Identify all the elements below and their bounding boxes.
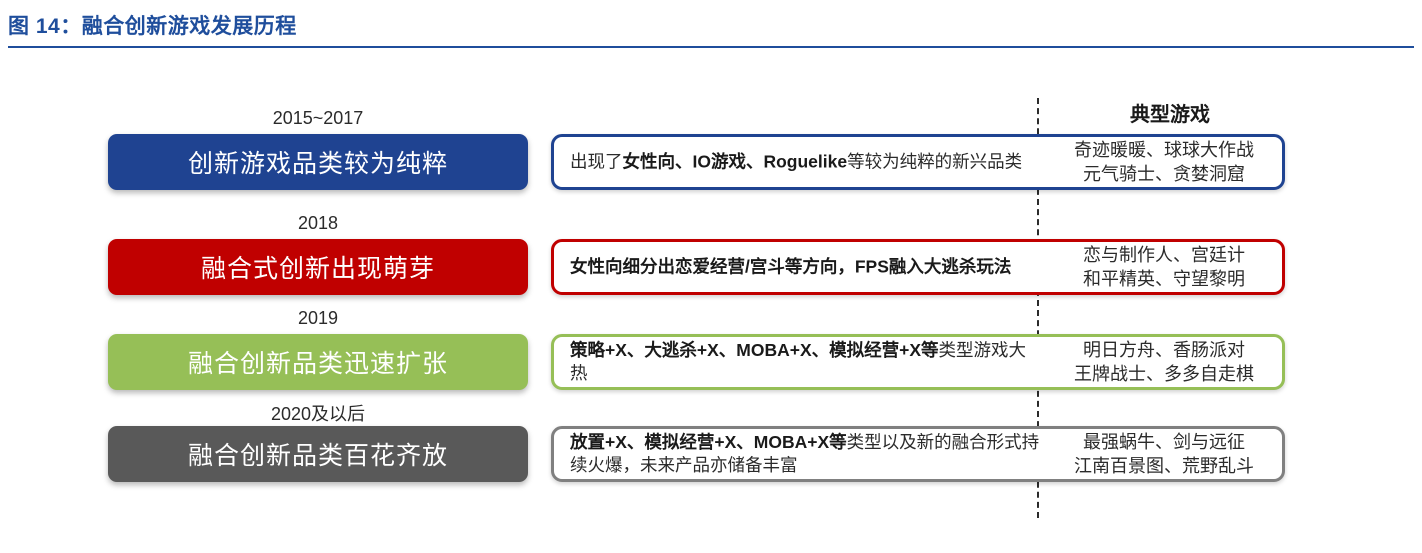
games-line: 王牌战士、多多自走棋: [1049, 362, 1279, 386]
games-line: 明日方舟、香肠派对: [1049, 338, 1279, 362]
description-box: 策略+X、大逃杀+X、MOBA+X、模拟经营+X等类型游戏大热 明日方舟、香肠派…: [551, 334, 1285, 390]
games-line: 元气骑士、贪婪洞窟: [1049, 162, 1279, 186]
timeline-diagram: 典型游戏 2015~2017 创新游戏品类较为纯粹 出现了女性向、IO游戏、Ro…: [0, 60, 1422, 553]
games-line: 和平精英、守望黎明: [1049, 267, 1279, 291]
description-text: 女性向细分出恋爱经营/宫斗等方向，FPS融入大逃杀玩法: [570, 256, 1040, 279]
typical-games-text: 恋与制作人、宫廷计 和平精英、守望黎明: [1049, 243, 1279, 291]
stage-pill[interactable]: 融合创新品类迅速扩张: [108, 334, 528, 390]
games-line: 江南百景图、荒野乱斗: [1049, 454, 1279, 478]
description-box: 女性向细分出恋爱经营/宫斗等方向，FPS融入大逃杀玩法 恋与制作人、宫廷计 和平…: [551, 239, 1285, 295]
description-text: 出现了女性向、IO游戏、Roguelike等较为纯粹的新兴品类: [570, 151, 1040, 174]
description-text: 策略+X、大逃杀+X、MOBA+X、模拟经营+X等类型游戏大热: [570, 339, 1040, 385]
description-box: 放置+X、模拟经营+X、MOBA+X等类型以及新的融合形式持续火爆，未来产品亦储…: [551, 426, 1285, 482]
title-divider-rule: [8, 46, 1414, 48]
typical-games-text: 明日方舟、香肠派对 王牌战士、多多自走棋: [1049, 338, 1279, 386]
games-line: 最强蜗牛、剑与远征: [1049, 430, 1279, 454]
era-label: 2020及以后: [108, 400, 528, 426]
era-label: 2018: [108, 213, 528, 234]
era-label: 2019: [108, 308, 528, 329]
games-column-header: 典型游戏: [1045, 98, 1295, 127]
stage-pill[interactable]: 融合创新品类百花齐放: [108, 426, 528, 482]
stage-pill[interactable]: 创新游戏品类较为纯粹: [108, 134, 528, 190]
description-text: 放置+X、模拟经营+X、MOBA+X等类型以及新的融合形式持续火爆，未来产品亦储…: [570, 431, 1040, 477]
stage-pill[interactable]: 融合式创新出现萌芽: [108, 239, 528, 295]
era-label: 2015~2017: [108, 108, 528, 129]
typical-games-text: 奇迹暖暖、球球大作战 元气骑士、贪婪洞窟: [1049, 138, 1279, 186]
typical-games-text: 最强蜗牛、剑与远征 江南百景图、荒野乱斗: [1049, 430, 1279, 478]
description-box: 出现了女性向、IO游戏、Roguelike等较为纯粹的新兴品类 奇迹暖暖、球球大…: [551, 134, 1285, 190]
games-line: 奇迹暖暖、球球大作战: [1049, 138, 1279, 162]
page-title: 图 14：融合创新游戏发展历程: [8, 10, 297, 40]
games-line: 恋与制作人、宫廷计: [1049, 243, 1279, 267]
